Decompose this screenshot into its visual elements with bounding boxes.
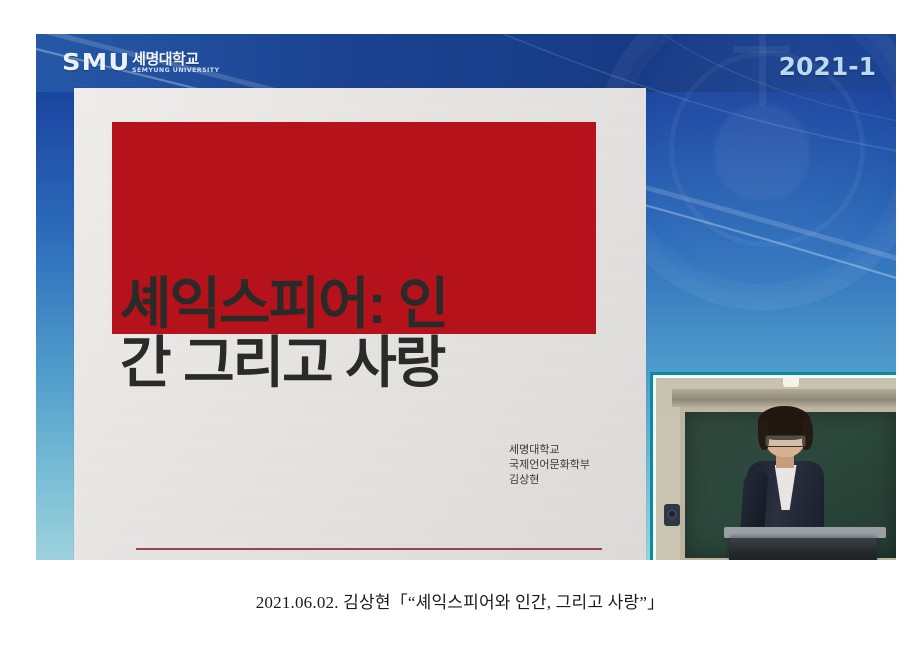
semester-label: 2021-1 bbox=[779, 52, 876, 81]
camera-scene bbox=[656, 378, 896, 560]
smu-university-logo: SMU 세명대학교 SEMYUNG UNIVERSITY bbox=[62, 52, 215, 75]
figure-caption: 2021.06.02. 김상현「“셰익스피어와 인간, 그리고 사랑”」 bbox=[0, 588, 920, 613]
slide-divider-rule bbox=[136, 548, 602, 550]
wall-speaker-icon bbox=[664, 504, 680, 526]
podium-surface bbox=[724, 527, 886, 538]
ceiling-light-icon bbox=[783, 378, 799, 387]
lecturer-camera-inset[interactable] bbox=[650, 372, 896, 560]
projector-valance bbox=[672, 389, 896, 408]
smu-logo-mark: SMU bbox=[62, 52, 130, 75]
lecture-video-frame[interactable]: SMU 세명대학교 SEMYUNG UNIVERSITY 2021-1 셰익스피… bbox=[36, 34, 896, 560]
smu-logo-korean-name: 세명대학교 bbox=[132, 52, 215, 68]
smu-logo-english-name: SEMYUNG UNIVERSITY bbox=[132, 68, 219, 74]
presentation-slide: 셰익스피어: 인 간 그리고 사랑 세명대학교 국제언어문화학부 김상현 bbox=[74, 88, 646, 560]
podium bbox=[729, 538, 878, 560]
slide-credit-text: 세명대학교 국제언어문화학부 김상현 bbox=[509, 443, 590, 488]
glasses-icon bbox=[765, 435, 806, 448]
slide-title: 셰익스피어: 인 간 그리고 사랑 bbox=[120, 274, 620, 393]
